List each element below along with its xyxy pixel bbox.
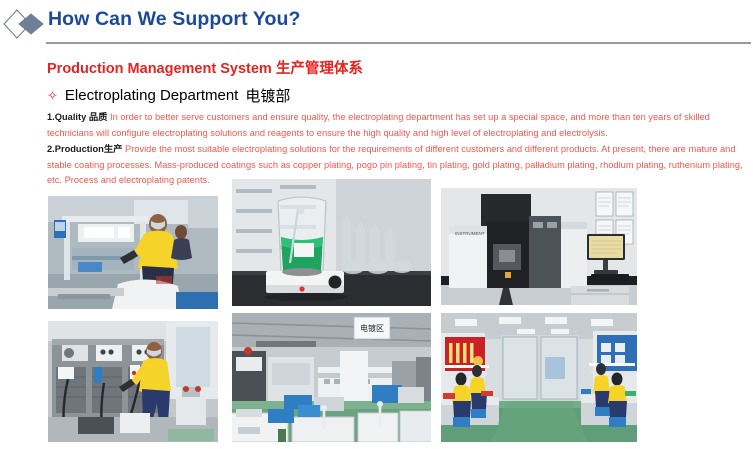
photo-lab-beaker-green-solution (232, 179, 431, 306)
photo-rectifier-station (48, 321, 218, 442)
paragraph-quality: 1.Quality 品质 In order to better serve cu… (47, 110, 747, 141)
header-divider (46, 42, 751, 44)
paragraph-quality-body: In order to better serve customers and e… (47, 112, 710, 138)
workshop-zone-sign-text: 电镀区 (360, 323, 384, 333)
paragraph-production-lead: 2.Production生产 (47, 144, 122, 154)
subheading-cn: 电镀部 (245, 85, 290, 106)
subheading-en: Electroplating Department (65, 87, 238, 104)
subheading: ✧ Electroplating Department 电镀部 (47, 85, 290, 106)
photo-analysis-instrument: INSTRUMENT (441, 188, 637, 305)
section-title-en: Production Management System (47, 61, 272, 77)
slide-canvas: How Can We Support You? Production Manag… (0, 0, 753, 449)
section-title: Production Management System 生产管理体系 (47, 57, 363, 78)
photo-cleanroom-inspection (441, 313, 637, 442)
diamond-bullet-icon: ✧ (47, 89, 58, 102)
photo-plating-line-operator (48, 196, 218, 309)
photo-plating-workshop-tanks: 电镀区 (232, 313, 431, 442)
paragraph-quality-lead: 1.Quality 品质 (47, 112, 107, 122)
svg-text:INSTRUMENT: INSTRUMENT (455, 231, 485, 236)
page-title: How Can We Support You? (48, 8, 301, 31)
double-diamond-logo (3, 8, 47, 42)
section-title-cn: 生产管理体系 (276, 61, 363, 77)
